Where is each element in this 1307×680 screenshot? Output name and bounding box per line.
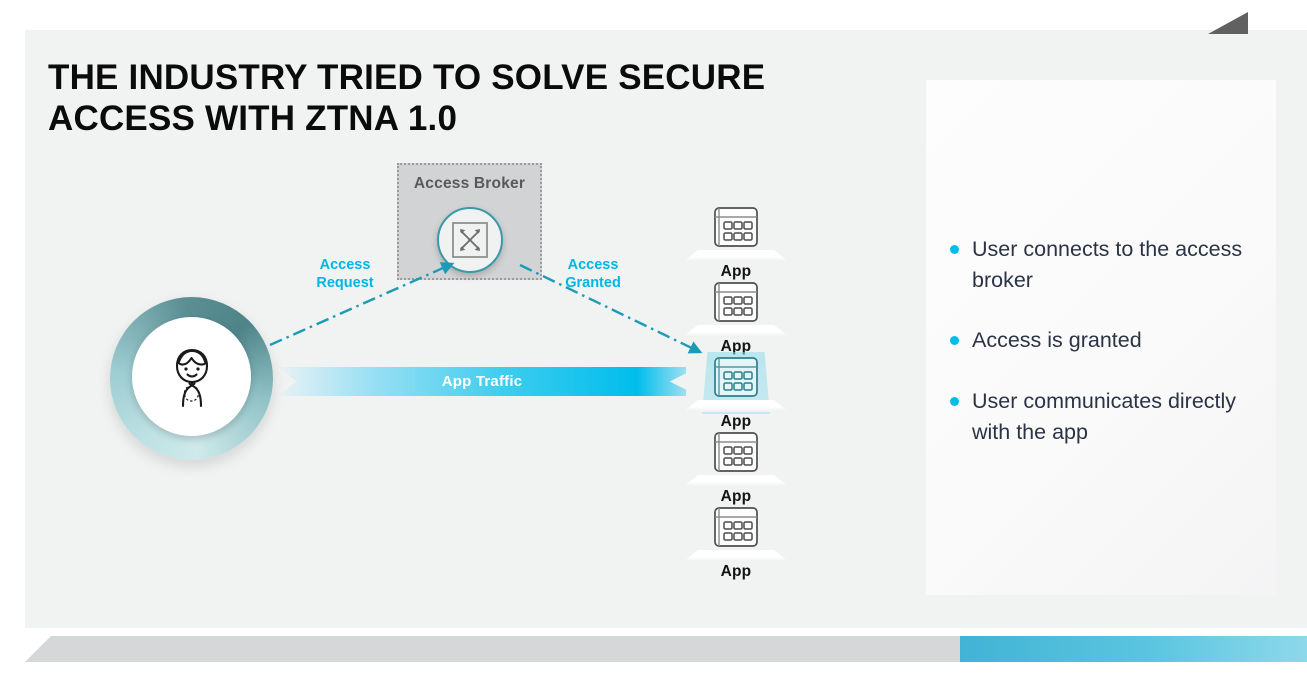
app-label: App [675, 563, 797, 581]
app-traffic-label: App Traffic [442, 373, 523, 390]
list-item-label: User communicates directly with the app [972, 386, 1260, 448]
access-broker-icon-circle [437, 207, 503, 273]
shuffle-icon [450, 220, 490, 260]
app-node: App [675, 275, 797, 350]
list-item: Access is granted [950, 325, 1260, 356]
app-node: App [675, 425, 797, 500]
access-request-label: Access Request [300, 256, 390, 292]
user-node [110, 297, 273, 460]
app-node: App [675, 500, 797, 575]
bullet-dot-icon [950, 336, 959, 345]
corner-triangle-decoration [1208, 12, 1248, 34]
bullet-dot-icon [950, 245, 959, 254]
notes-bullet-list: User connects to the access broker Acces… [950, 234, 1260, 477]
app-window-icon [708, 430, 764, 480]
app-window-icon [708, 505, 764, 555]
list-item: User connects to the access broker [950, 234, 1260, 296]
list-item-label: Access is granted [972, 325, 1142, 356]
bullet-dot-icon [950, 397, 959, 406]
access-broker-node: Access Broker [397, 163, 542, 280]
bottom-accent-bar [960, 636, 1307, 662]
app-window-icon [708, 205, 764, 255]
app-node: App [675, 200, 797, 275]
person-icon [153, 338, 231, 416]
app-window-icon [708, 280, 764, 330]
list-item-label: User connects to the access broker [972, 234, 1260, 296]
access-broker-title: Access Broker [399, 175, 540, 193]
apps-column: App App [675, 200, 797, 575]
user-avatar [132, 317, 251, 436]
list-item: User communicates directly with the app [950, 386, 1260, 448]
access-granted-label: Access Granted [548, 256, 638, 292]
app-traffic-bar: App Traffic [278, 367, 686, 396]
app-node-highlighted: App [675, 350, 797, 425]
page-title: THE INDUSTRY TRIED TO SOLVE SECURE ACCES… [48, 58, 878, 140]
app-window-icon [708, 355, 764, 405]
